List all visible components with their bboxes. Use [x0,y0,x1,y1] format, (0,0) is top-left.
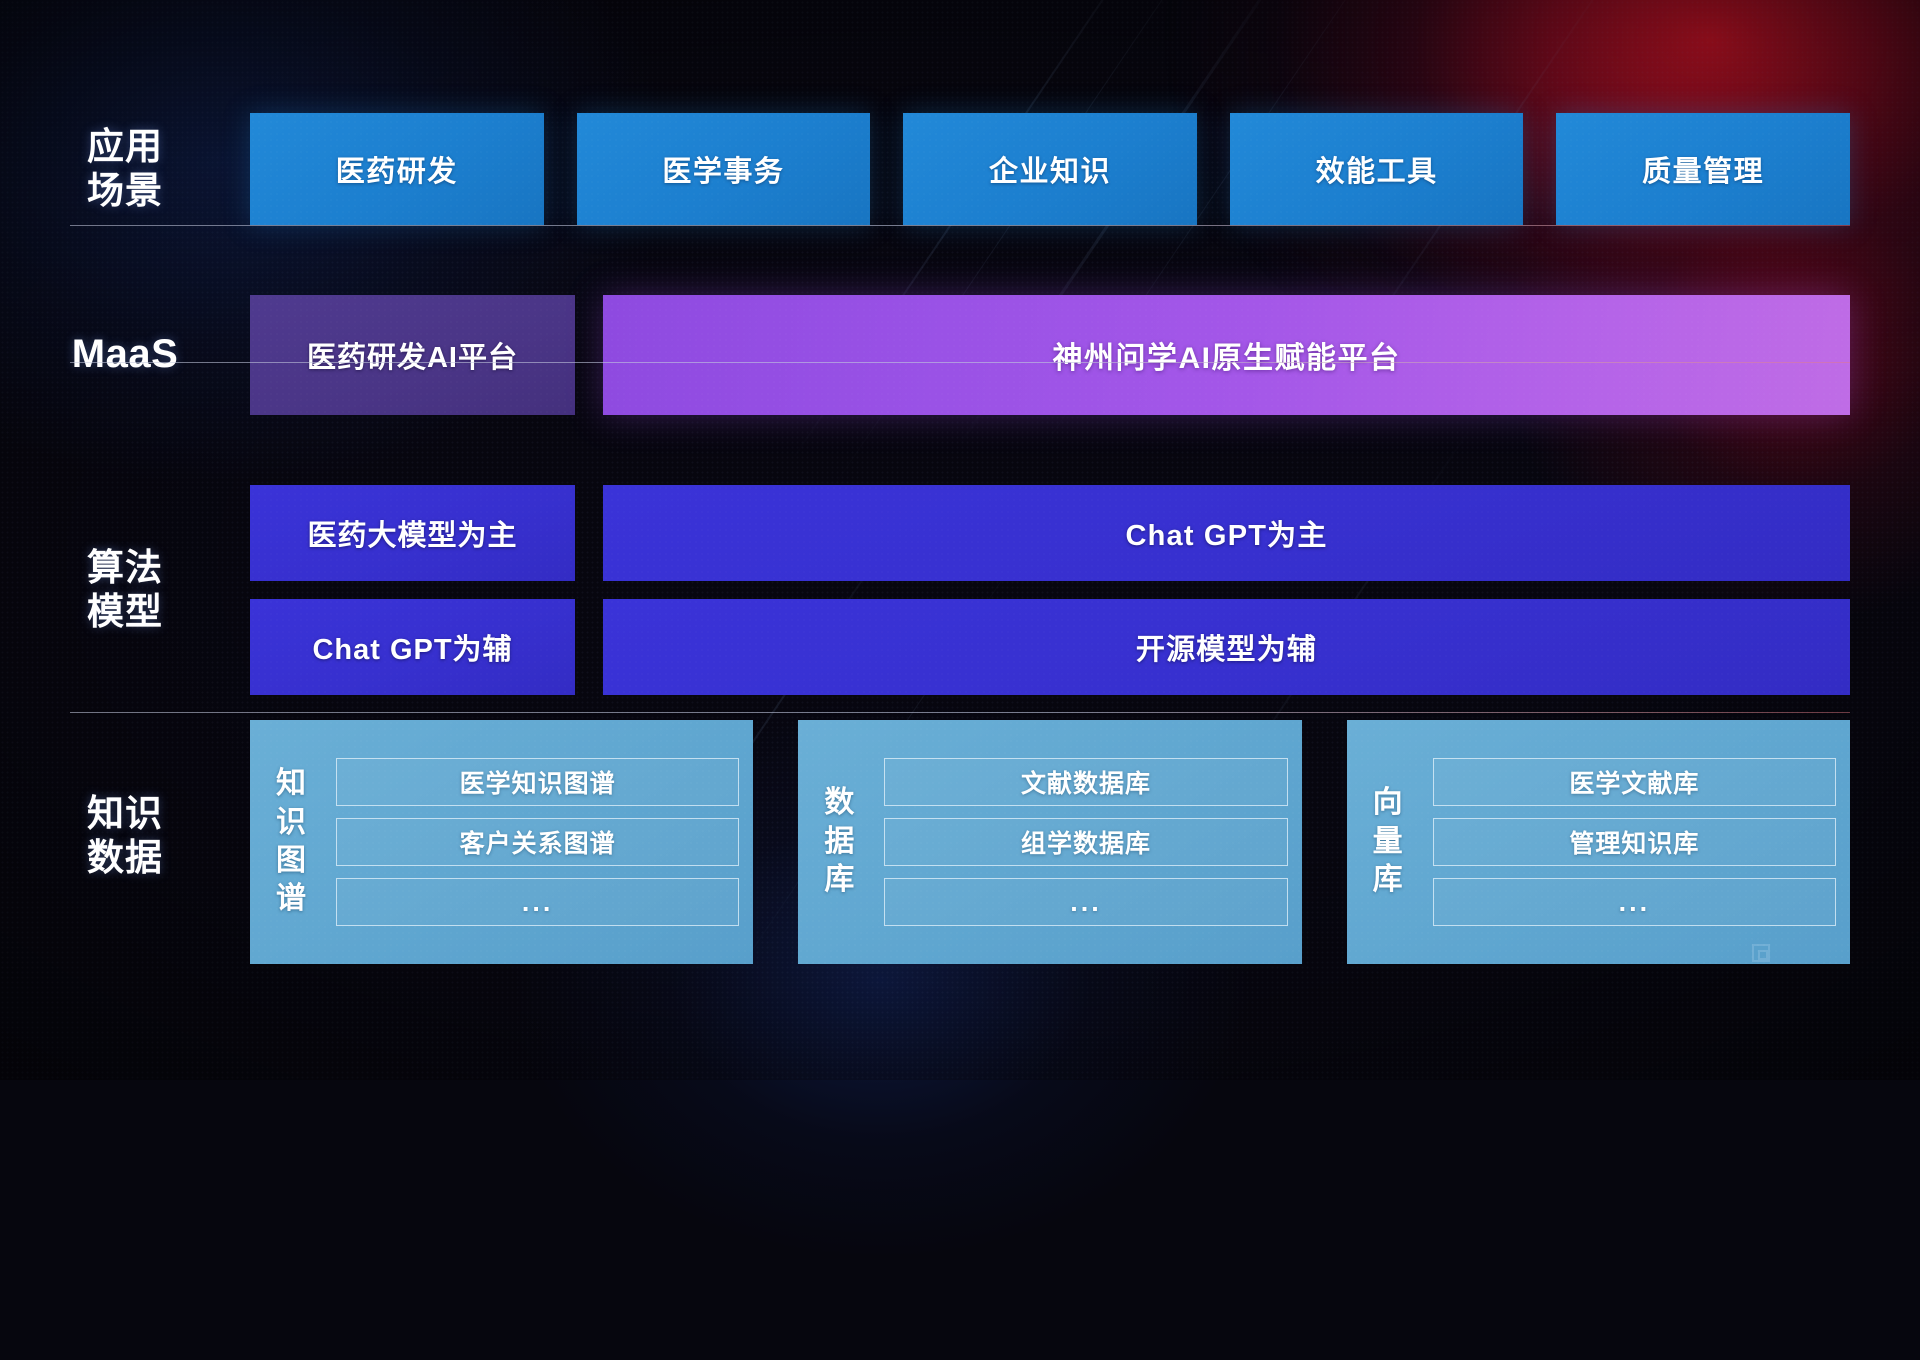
knowledge-chip[interactable]: 医学知识图谱 [336,758,739,806]
scenario-card[interactable]: 效能工具 [1230,113,1524,225]
knowledge-chip-list: 医学知识图谱 客户关系图谱 ... [322,732,739,952]
knowledge-chip-label: 管理知识库 [1569,824,1699,860]
knowledge-chip-more[interactable]: ... [1433,878,1836,926]
algorithm-card-label: 医药大模型为主 [307,512,517,554]
algorithm-card-chatgpt-primary[interactable]: Chat GPT为主 [603,485,1850,581]
maas-platform-shenzhou-label: 神州问学AI原生赋能平台 [1053,333,1401,377]
scenario-card[interactable]: 医药研发 [250,113,544,225]
knowledge-group-vertical-label: 向 量 库 [1357,732,1419,952]
row-application-scenarios: 应用 场景 医药研发 医学事务 企业知识 效能工具 质量管理 [0,104,1920,234]
algorithm-card-label: Chat GPT为辅 [312,626,512,668]
algorithm-card-chatgpt-secondary[interactable]: Chat GPT为辅 [250,599,575,695]
row-knowledge-data: 知识 数据 知 识 图 谱 医学知识图谱 客户关系图谱 ... 数 [0,720,1920,975]
row-label-knowledge-data: 知识 数据 [0,720,250,879]
knowledge-chip-more[interactable]: ... [336,878,739,926]
row-label-maas: MaaS [0,331,250,378]
knowledge-chip-list: 文献数据库 组学数据库 ... [870,732,1287,952]
scenario-card-label: 医学事务 [662,148,784,190]
knowledge-chip-label: 医学文献库 [1569,764,1699,800]
divider-maas-algo [70,362,1850,363]
algorithm-card-grid: 医药大模型为主 Chat GPT为主 Chat GPT为辅 开源模型为辅 [250,485,1920,695]
scenario-card[interactable]: 企业知识 [903,113,1197,225]
divider-algo-knowledge [70,712,1850,713]
algorithm-card-label: Chat GPT为主 [1125,512,1327,554]
knowledge-chip-label: 组学数据库 [1021,824,1151,860]
knowledge-chip[interactable]: 组学数据库 [884,818,1287,866]
row-label-application-scenarios: 应用 场景 [0,125,250,212]
knowledge-group-vector-store[interactable]: 向 量 库 医学文献库 管理知识库 ... [1347,720,1850,964]
knowledge-chip[interactable]: 医学文献库 [1433,758,1836,806]
scenario-card-label: 医药研发 [336,148,458,190]
knowledge-chip[interactable]: 文献数据库 [884,758,1287,806]
knowledge-chip-label: ... [1070,887,1102,918]
knowledge-chip-label: 客户关系图谱 [460,824,616,860]
architecture-diagram: 应用 场景 医药研发 医学事务 企业知识 效能工具 质量管理 MaaS 医药研发… [0,0,1920,1080]
knowledge-group-vertical-label: 知 识 图 谱 [260,732,322,952]
row-algorithm-models: 算法 模型 医药大模型为主 Chat GPT为主 Chat GPT为辅 开源模型… [0,470,1920,710]
row-label-algorithm-models: 算法 模型 [0,546,250,633]
scenario-card-label: 企业知识 [989,148,1111,190]
algorithm-card-pharma-primary[interactable]: 医药大模型为主 [250,485,575,581]
algorithm-card-opensource-secondary[interactable]: 开源模型为辅 [603,599,1850,695]
scenario-card[interactable]: 质量管理 [1556,113,1850,225]
divider-scenarios-maas [70,225,1850,226]
maas-platform-shenzhou[interactable]: 神州问学AI原生赋能平台 [603,295,1850,415]
knowledge-chip-label: 医学知识图谱 [460,764,616,800]
knowledge-chip-label: ... [1619,887,1651,918]
knowledge-chip[interactable]: 管理知识库 [1433,818,1836,866]
knowledge-chip-label: ... [522,887,554,918]
knowledge-chip-label: 文献数据库 [1021,764,1151,800]
algorithm-card-label: 开源模型为辅 [1136,626,1317,668]
algorithm-row-primary: 医药大模型为主 Chat GPT为主 [250,485,1850,581]
knowledge-group-knowledge-graph[interactable]: 知 识 图 谱 医学知识图谱 客户关系图谱 ... [250,720,753,964]
knowledge-chip-more[interactable]: ... [884,878,1287,926]
knowledge-group-database[interactable]: 数 据 库 文献数据库 组学数据库 ... [798,720,1301,964]
maas-card-list: 医药研发AI平台 神州问学AI原生赋能平台 [250,295,1920,415]
algorithm-row-secondary: Chat GPT为辅 开源模型为辅 [250,599,1850,695]
scenario-card[interactable]: 医学事务 [577,113,871,225]
scenario-card-label: 效能工具 [1316,148,1438,190]
scenario-card-label: 质量管理 [1642,148,1764,190]
knowledge-chip-list: 医学文献库 管理知识库 ... [1419,732,1836,952]
maas-platform-pharma-label: 医药研发AI平台 [307,334,518,376]
knowledge-chip[interactable]: 客户关系图谱 [336,818,739,866]
knowledge-group-list: 知 识 图 谱 医学知识图谱 客户关系图谱 ... 数 据 库 [250,720,1920,964]
maas-platform-pharma[interactable]: 医药研发AI平台 [250,295,575,415]
scenario-card-list: 医药研发 医学事务 企业知识 效能工具 质量管理 [250,113,1920,225]
knowledge-group-vertical-label: 数 据 库 [808,732,870,952]
row-maas: MaaS 医药研发AI平台 神州问学AI原生赋能平台 [0,290,1920,420]
